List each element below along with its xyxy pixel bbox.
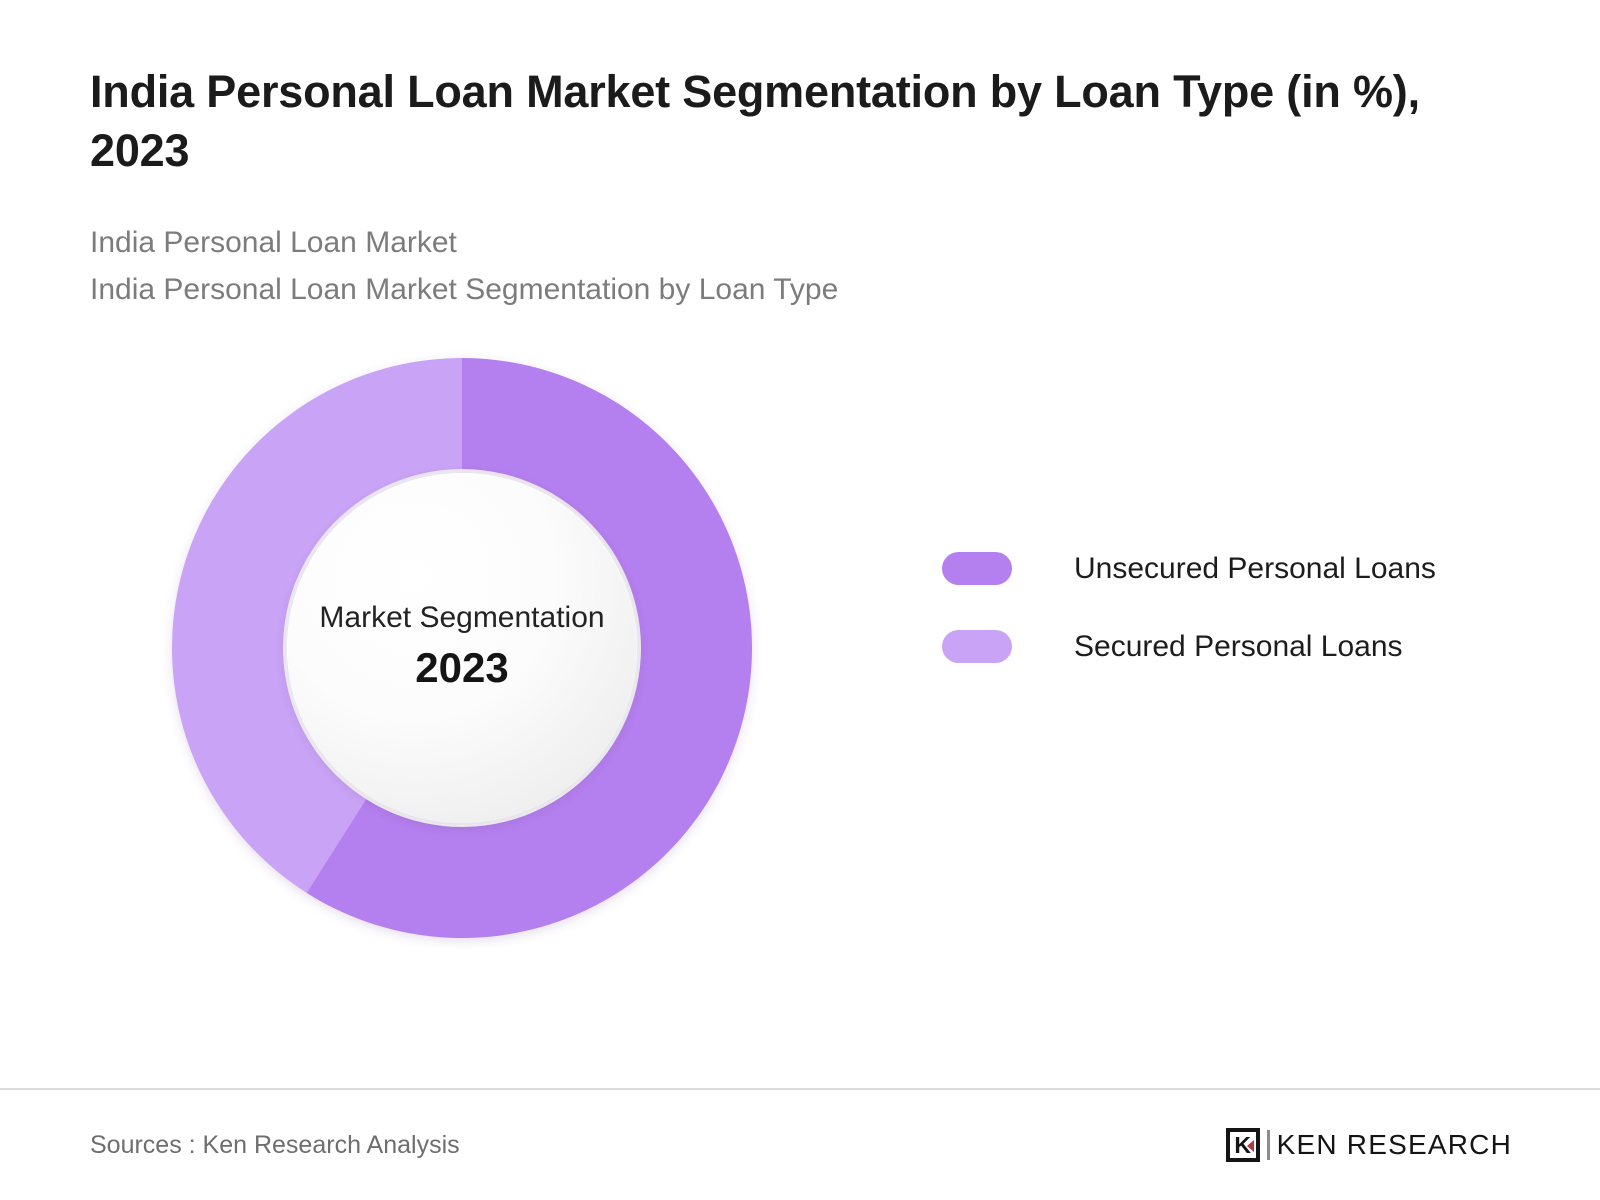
chart-footer: Sources : Ken Research Analysis K KEN RE… bbox=[0, 1088, 1600, 1200]
brand-mark-icon: K bbox=[1226, 1128, 1260, 1162]
legend-label-unsecured: Unsecured Personal Loans bbox=[1074, 552, 1436, 586]
legend-item-unsecured[interactable]: Unsecured Personal Loans bbox=[942, 552, 1436, 586]
chart-card: India Personal Loan Market Segmentation … bbox=[0, 0, 1600, 1200]
donut-center-label: Market Segmentation bbox=[319, 600, 604, 636]
legend-item-secured[interactable]: Secured Personal Loans bbox=[942, 630, 1436, 664]
legend-swatch-icon-secured bbox=[942, 630, 1012, 663]
chart-body: Market Segmentation 2023 Unsecured Perso… bbox=[0, 314, 1600, 1088]
page-title: India Personal Loan Market Segmentation … bbox=[90, 62, 1490, 181]
chart-legend: Unsecured Personal Loans Secured Persona… bbox=[942, 552, 1436, 664]
legend-swatch-icon-unsecured bbox=[942, 552, 1012, 585]
donut-center-value: 2023 bbox=[415, 642, 508, 695]
brand-mark-triangle-icon bbox=[1247, 1140, 1254, 1152]
brand-name: KEN RESEARCH bbox=[1277, 1129, 1512, 1161]
chart-header: India Personal Loan Market Segmentation … bbox=[0, 0, 1600, 314]
source-text: Sources : Ken Research Analysis bbox=[90, 1131, 460, 1160]
donut-center: Market Segmentation 2023 bbox=[287, 473, 637, 823]
subtitle-line-market: India Personal Loan Market bbox=[90, 219, 1512, 266]
donut-chart: Market Segmentation 2023 bbox=[162, 348, 762, 948]
brand-logo: K KEN RESEARCH bbox=[1226, 1128, 1512, 1162]
subtitle-line-segmentation: India Personal Loan Market Segmentation … bbox=[90, 266, 1512, 313]
subtitle-block: India Personal Loan Market India Persona… bbox=[90, 219, 1512, 314]
brand-divider bbox=[1267, 1130, 1270, 1160]
legend-label-secured: Secured Personal Loans bbox=[1074, 630, 1403, 664]
